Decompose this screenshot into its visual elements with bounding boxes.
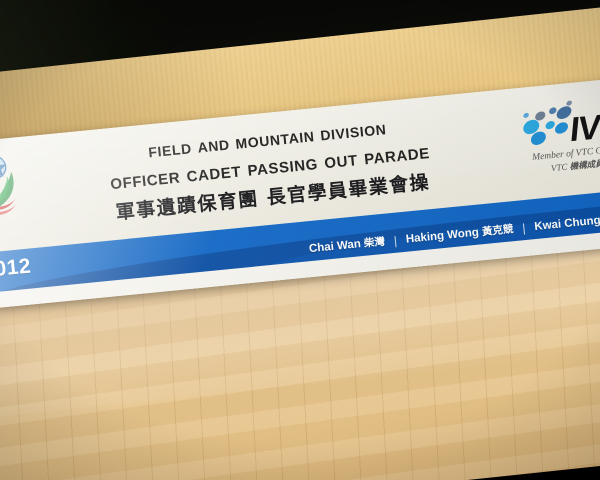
- vtc-tagline-zh-text: 機構成員: [569, 159, 600, 172]
- campus-separator: |: [522, 221, 526, 235]
- campus-separator: |: [393, 233, 397, 247]
- campus-name-zh: 柴灣: [363, 236, 385, 250]
- campus-name-zh: 黃克競: [481, 223, 514, 238]
- banner-year: 012: [0, 254, 32, 281]
- photo-scene: Field and Mountain Division Officer Cade…: [0, 0, 600, 480]
- ive-wordmark: IVE: [568, 106, 600, 150]
- unit-crest-icon: [0, 153, 24, 223]
- vtc-tagline-zh-prefix: VTC: [551, 162, 568, 174]
- ive-logo: IVE Member of VTC Group VTC 機構成員: [515, 88, 600, 188]
